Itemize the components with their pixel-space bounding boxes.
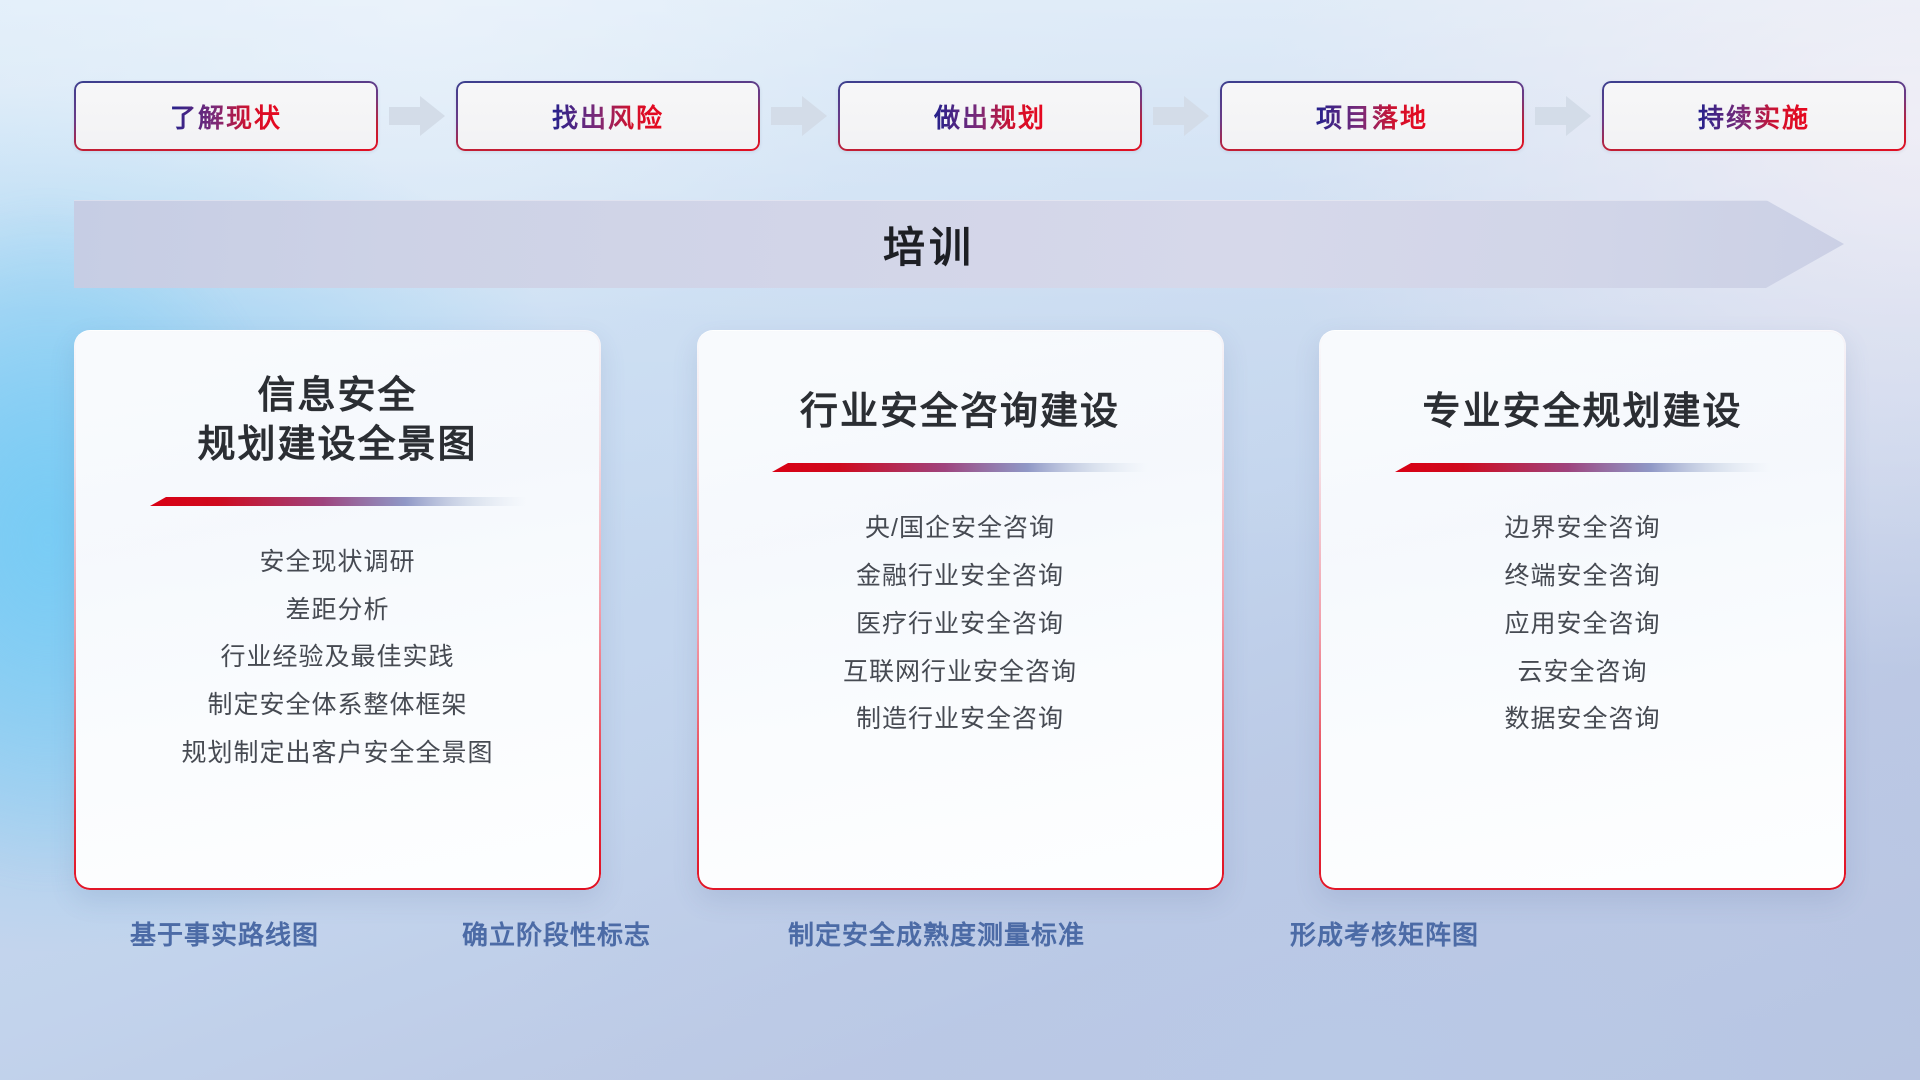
card-accent-divider [1395, 461, 1771, 476]
card-title-line: 规划建设全景图 [96, 421, 579, 470]
list-item: 制造行业安全咨询 [856, 703, 1064, 737]
list-item: 央/国企安全咨询 [865, 512, 1055, 546]
list-item: 金融行业安全咨询 [856, 560, 1064, 594]
footnote-label-3: 制定安全成熟度测量标准 [788, 915, 1085, 952]
card-item-list: 安全现状调研差距分析行业经验及最佳实践制定安全体系整体框架规划制定出客户安全全景… [74, 546, 601, 771]
list-item: 规划制定出客户安全全景图 [181, 737, 493, 771]
step-box-4[interactable]: 项目落地 [1220, 81, 1524, 151]
step-box-2[interactable]: 找出风险 [456, 81, 760, 151]
step-arrow-icon [1532, 95, 1594, 137]
card-title-line: 信息安全 [96, 372, 579, 421]
card-accent-divider [150, 495, 526, 510]
card-accent-divider [772, 461, 1148, 476]
step-label: 持续实施 [1698, 98, 1810, 135]
footnote-label-2: 确立阶段性标志 [462, 915, 651, 952]
card-title: 行业安全咨询建设 [697, 388, 1224, 437]
list-item: 云安全咨询 [1517, 656, 1647, 690]
card-title-line: 行业安全咨询建设 [719, 388, 1202, 437]
step-label: 找出风险 [552, 98, 664, 135]
list-item: 边界安全咨询 [1504, 512, 1660, 546]
card-title-line: 专业安全规划建设 [1341, 388, 1824, 437]
footnote-label-4: 形成考核矩阵图 [1290, 915, 1479, 952]
step-label: 项目落地 [1316, 98, 1428, 135]
card-item-list: 边界安全咨询终端安全咨询应用安全咨询云安全咨询数据安全咨询 [1319, 512, 1846, 737]
list-item: 差距分析 [285, 594, 389, 628]
card-row: 信息安全规划建设全景图安全现状调研差距分析行业经验及最佳实践制定安全体系整体框架… [74, 330, 1846, 895]
step-arrow-icon [386, 95, 448, 137]
list-item: 行业经验及最佳实践 [220, 641, 454, 675]
info-card-1[interactable]: 信息安全规划建设全景图安全现状调研差距分析行业经验及最佳实践制定安全体系整体框架… [74, 330, 601, 890]
card-title: 信息安全规划建设全景图 [74, 372, 601, 471]
list-item: 数据安全咨询 [1504, 703, 1660, 737]
list-item: 医疗行业安全咨询 [856, 608, 1064, 642]
list-item: 应用安全咨询 [1504, 608, 1660, 642]
list-item: 互联网行业安全咨询 [843, 656, 1077, 690]
step-arrow-icon [1150, 95, 1212, 137]
training-banner: 培训 [74, 200, 1844, 288]
step-arrow-icon [768, 95, 830, 137]
slide-stage: 了解现状找出风险做出规划项目落地持续实施 培训 信息安全规划建设全景图安全现状调… [0, 0, 1920, 1080]
step-box-5[interactable]: 持续实施 [1602, 81, 1906, 151]
process-step-row: 了解现状找出风险做出规划项目落地持续实施 [74, 80, 1846, 152]
footnote-label-1: 基于事实路线图 [130, 915, 319, 952]
info-card-3[interactable]: 专业安全规划建设边界安全咨询终端安全咨询应用安全咨询云安全咨询数据安全咨询 [1319, 330, 1846, 890]
step-box-3[interactable]: 做出规划 [838, 81, 1142, 151]
card-item-list: 央/国企安全咨询金融行业安全咨询医疗行业安全咨询互联网行业安全咨询制造行业安全咨… [697, 512, 1224, 737]
footnote-row: 基于事实路线图确立阶段性标志制定安全成熟度测量标准形成考核矩阵图 [0, 915, 1920, 965]
list-item: 制定安全体系整体框架 [207, 689, 467, 723]
step-label: 做出规划 [934, 98, 1046, 135]
card-title: 专业安全规划建设 [1319, 388, 1846, 437]
step-label: 了解现状 [170, 98, 282, 135]
list-item: 终端安全咨询 [1504, 560, 1660, 594]
banner-title: 培训 [74, 200, 1844, 288]
step-box-1[interactable]: 了解现状 [74, 81, 378, 151]
list-item: 安全现状调研 [259, 546, 415, 580]
info-card-2[interactable]: 行业安全咨询建设央/国企安全咨询金融行业安全咨询医疗行业安全咨询互联网行业安全咨… [697, 330, 1224, 890]
